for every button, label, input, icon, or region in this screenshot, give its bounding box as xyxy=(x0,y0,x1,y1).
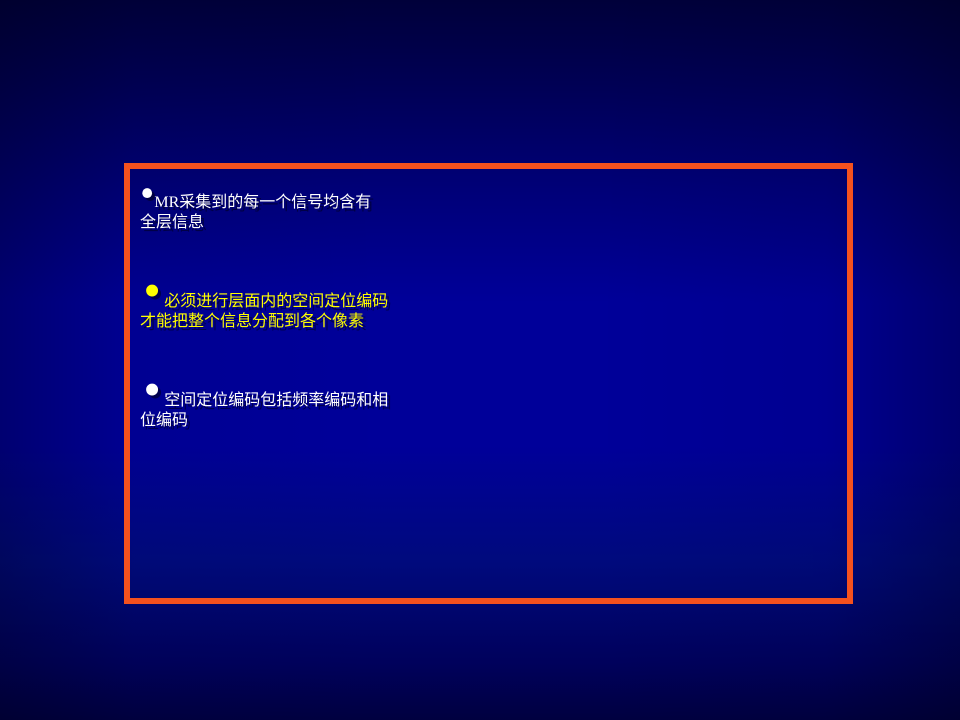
bullet-marker-icon: • xyxy=(140,268,164,316)
presentation-slide: •MR采集到的每一个信号均含有 全层信息 •必须进行层面内的空间定位编码 才能把… xyxy=(0,0,960,720)
bullet-item-3: •空间定位编码包括频率编码和相 位编码 xyxy=(140,371,841,428)
bullet-1-text-line-1: 采集到的每一个信号均含有 xyxy=(179,192,371,211)
bullet-spacer-1 xyxy=(140,246,841,272)
bullet-1-line-2: 全层信息 xyxy=(140,214,841,230)
bullet-3-text-line-1: 空间定位编码包括频率编码和相 xyxy=(164,390,388,409)
bullet-3-line-2: 位编码 xyxy=(140,412,841,428)
bullet-marker-icon: • xyxy=(140,170,154,216)
bullet-marker-icon: • xyxy=(140,367,164,415)
bulleted-content-box: •MR采集到的每一个信号均含有 全层信息 •必须进行层面内的空间定位编码 才能把… xyxy=(124,163,853,604)
bullet-1-line-1: •MR采集到的每一个信号均含有 xyxy=(140,173,841,214)
bullet-item-2: •必须进行层面内的空间定位编码 才能把整个信息分配到各个像素 xyxy=(140,272,841,329)
bullet-1-lead-text: MR xyxy=(154,194,179,211)
bullet-3-line-1: •空间定位编码包括频率编码和相 xyxy=(140,371,841,412)
bullet-2-line-1: •必须进行层面内的空间定位编码 xyxy=(140,272,841,313)
bullet-list: •MR采集到的每一个信号均含有 全层信息 •必须进行层面内的空间定位编码 才能把… xyxy=(140,173,841,428)
bullet-spacer-2 xyxy=(140,345,841,371)
bullet-item-1: •MR采集到的每一个信号均含有 全层信息 xyxy=(140,173,841,230)
bullet-2-text-line-1: 必须进行层面内的空间定位编码 xyxy=(164,291,388,310)
bullet-2-line-2: 才能把整个信息分配到各个像素 xyxy=(140,313,841,329)
